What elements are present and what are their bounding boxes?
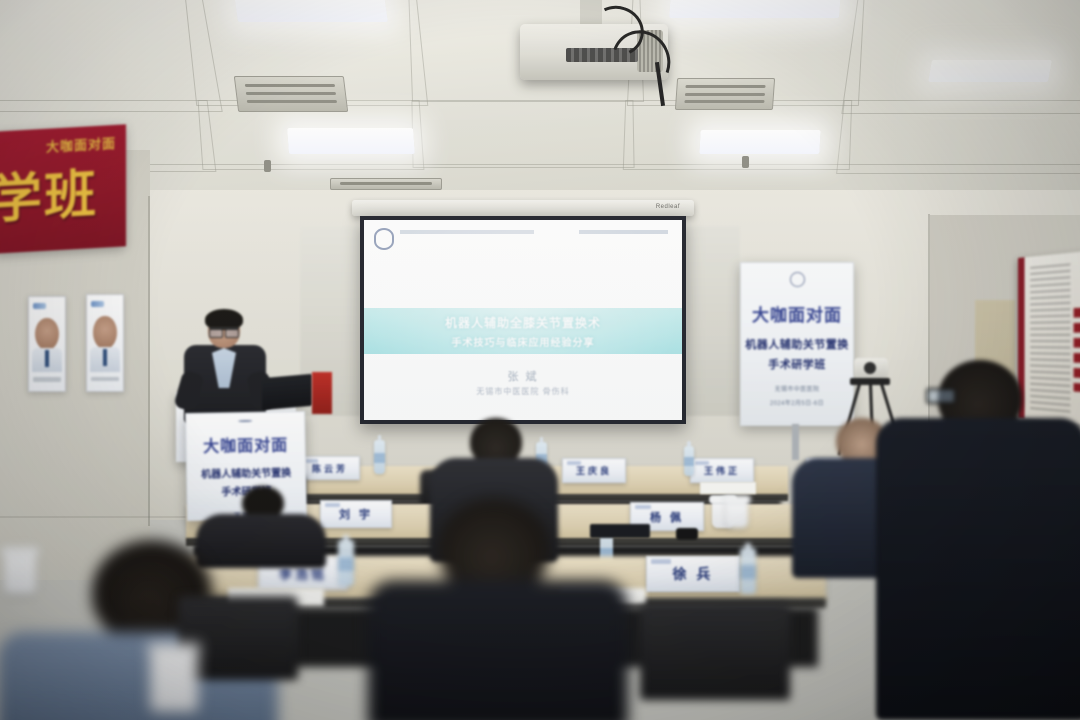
mobile-phone (676, 528, 698, 540)
wall-board-right (686, 226, 740, 416)
ceiling-light (928, 60, 1052, 82)
placard-name: 王伟正 (704, 464, 740, 477)
placard-name: 陈云芳 (312, 462, 348, 475)
rollup-venue: 无锡市中医医院 (775, 384, 820, 393)
ceiling (0, 0, 1080, 215)
ceiling-light (669, 0, 841, 18)
slide-title-line2: 手术技巧与临床应用经验分享 (452, 334, 595, 349)
name-placard: 王庆良 (562, 458, 626, 483)
red-folder (312, 372, 332, 414)
eyeglasses-icon (926, 388, 956, 404)
conference-room-photo: 大咖面对面 学班 Redleaf 机器人辅助全膝关节置换术 手术技巧与临床应用经… (0, 0, 1080, 720)
presenter (182, 312, 268, 422)
presenter-laptop (262, 374, 312, 410)
hvac-linear-vent (330, 178, 442, 190)
circle-logo-icon (790, 272, 805, 287)
ceiling-light (234, 0, 388, 22)
ceiling-light (699, 130, 820, 154)
name-placard: 陈云芳 (300, 456, 360, 480)
name-placard: 王伟正 (690, 458, 754, 483)
eyeglasses-icon (209, 327, 239, 336)
presentation-slide: 机器人辅助全膝关节置换术 手术技巧与临床应用经验分享 张 斌 无锡市中医医院 骨… (364, 220, 682, 420)
placard-name: 杨 佩 (650, 509, 684, 525)
chair (640, 604, 790, 700)
water-bottle (684, 446, 694, 476)
hvac-vent (234, 76, 348, 112)
slide-presenter-org: 无锡市中医医院 骨伤科 (364, 386, 682, 397)
water-bottle (338, 540, 354, 586)
red-wall-banner: 大咖面对面 学班 (0, 124, 126, 253)
attendee (368, 498, 628, 720)
slide-title-line1: 机器人辅助全膝关节置换术 (445, 314, 601, 331)
paper-cup (4, 552, 36, 594)
podium-sign-line1: 机器人辅助关节置换 (201, 464, 291, 481)
screen-brand-label: Redleaf (656, 204, 680, 210)
paper-cup (726, 500, 748, 528)
slide-presenter-name: 张 斌 (364, 368, 682, 384)
projection-screen-case: Redleaf (352, 200, 694, 216)
rollup-title: 大咖面对面 (752, 301, 842, 326)
rollup-line1: 机器人辅助关节置换 (745, 336, 849, 352)
rollup-date: 2024年2月5日-6日 (770, 398, 824, 407)
sprinkler-head (742, 156, 749, 168)
slide-title-band: 机器人辅助全膝关节置换术 手术技巧与临床应用经验分享 (364, 308, 682, 354)
ceiling-light (287, 128, 415, 154)
placard-name: 王庆良 (576, 464, 612, 477)
red-banner-main-text: 学班 (0, 152, 98, 233)
video-camera-icon (854, 358, 888, 378)
doctor-portrait-poster (86, 294, 124, 392)
podium-sign-title: 大咖面对面 (203, 431, 288, 456)
water-bottle (740, 548, 756, 594)
water-bottle (374, 440, 385, 474)
doctor-portrait-poster (28, 296, 66, 392)
name-placard: 徐 兵 (646, 556, 740, 592)
hospital-logo-icon (374, 228, 394, 250)
circle-logo-icon (238, 420, 252, 422)
placard-name: 徐 兵 (673, 564, 714, 584)
hvac-vent (675, 78, 775, 110)
attendee (886, 360, 1080, 720)
sprinkler-head (264, 160, 271, 172)
projection-screen: 机器人辅助全膝关节置换术 手术技巧与临床应用经验分享 张 斌 无锡市中医医院 骨… (360, 216, 686, 424)
rollup-line2: 手术研学班 (768, 356, 826, 372)
paper-cup (150, 648, 198, 712)
